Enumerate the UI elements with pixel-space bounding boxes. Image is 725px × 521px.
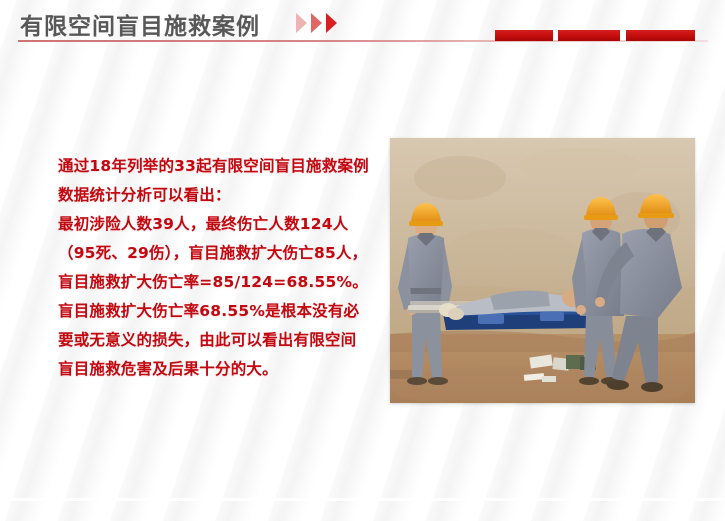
body-text-line: 数据统计分析可以看出： xyxy=(58,181,388,210)
header-accent-block-2 xyxy=(558,30,620,41)
body-text-line: 最初涉险人数39人，最终伤亡人数124人 xyxy=(58,210,388,239)
chevron-right-icon-3 xyxy=(326,13,337,33)
page-title: 有限空间盲目施救案例 xyxy=(20,7,260,41)
slide-canvas: 有限空间盲目施救案例 通过18年列举的33起有限空间盲目施救案例 数据统计分析可… xyxy=(0,0,725,521)
body-text-line: 盲目施救危害及后果十分的大。 xyxy=(58,355,388,384)
slide-header: 有限空间盲目施救案例 xyxy=(0,0,725,45)
body-text-line: 要或无意义的损失，由此可以看出有限空间 xyxy=(58,326,388,355)
body-text-line: （95死、29伤），盲目施救扩大伤亡85人， xyxy=(58,239,388,268)
body-text-line: 盲目施救扩大伤亡率=85/124=68.55%。 xyxy=(58,268,388,297)
chevron-right-icon-2 xyxy=(311,13,322,33)
lower-band-divider xyxy=(0,498,725,501)
body-text-line: 通过18年列举的33起有限空间盲目施救案例 xyxy=(58,152,388,181)
double-chevron-right-icon xyxy=(296,13,352,34)
body-text-line: 盲目施救扩大伤亡率68.55%是根本没有必 xyxy=(58,297,388,326)
chevron-right-icon-1 xyxy=(296,13,307,33)
header-accent-block-3 xyxy=(626,30,695,41)
rescue-photo-illustration xyxy=(390,138,695,403)
header-accent-block-1 xyxy=(495,30,553,41)
body-text-block: 通过18年列举的33起有限空间盲目施救案例 数据统计分析可以看出： 最初涉险人数… xyxy=(58,152,388,384)
header-accent-blocks xyxy=(495,30,705,41)
rescue-photo xyxy=(390,138,695,403)
